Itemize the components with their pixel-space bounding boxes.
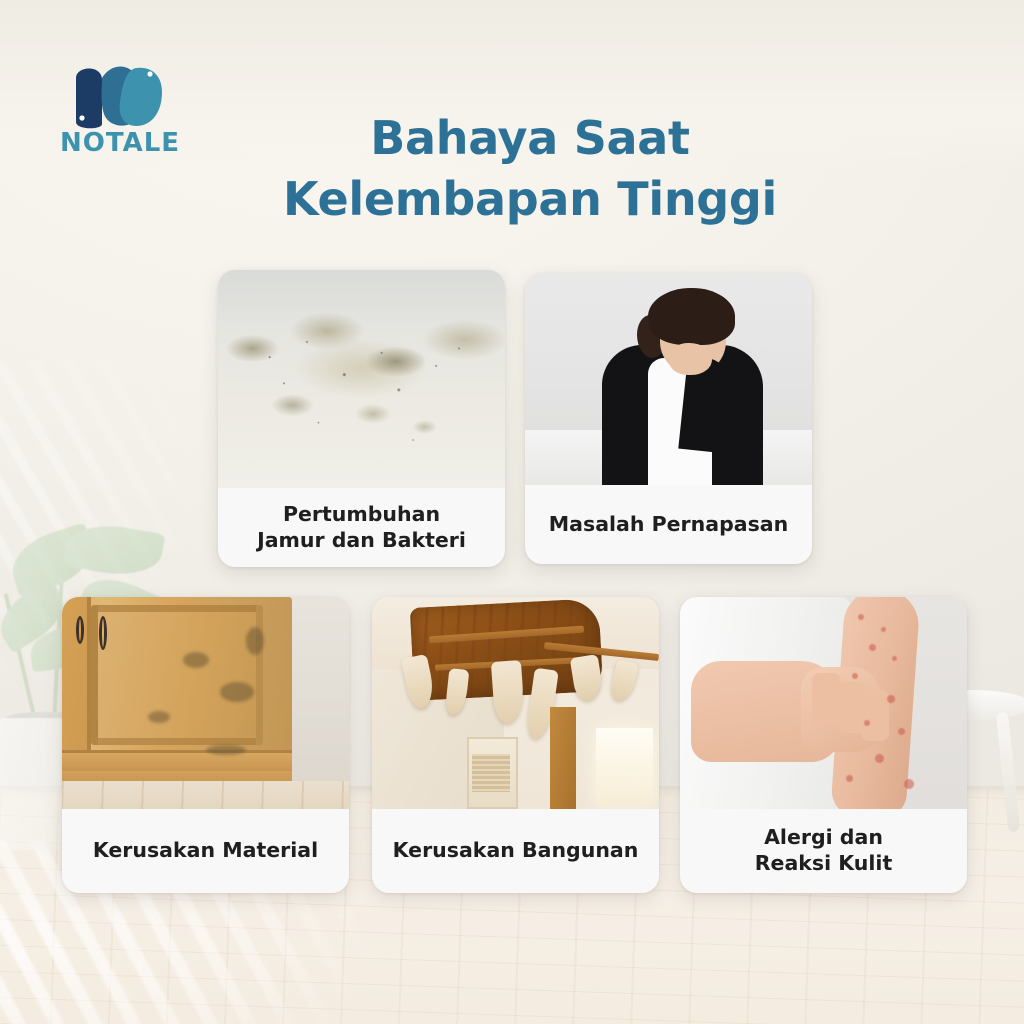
card-caption-line-1: Kerusakan Material bbox=[93, 838, 318, 862]
card-caption-line-1: Kerusakan Bangunan bbox=[393, 838, 639, 862]
risk-card-alergi-dan-reaksi-kulit[interactable]: Alergi dan Reaksi Kulit bbox=[680, 597, 967, 893]
brand-logo: NOTALE bbox=[60, 58, 180, 163]
card-caption: Kerusakan Material bbox=[62, 809, 349, 893]
risk-card-pertumbuhan-jamur-dan-bakteri[interactable]: Pertumbuhan Jamur dan Bakteri bbox=[218, 270, 505, 567]
page-title: Bahaya Saat Kelembapan Tinggi bbox=[200, 108, 860, 229]
card-caption: Kerusakan Bangunan bbox=[372, 809, 659, 893]
card-image-damaged-ceiling bbox=[372, 597, 659, 809]
card-caption-line-2: Reaksi Kulit bbox=[755, 851, 893, 875]
brand-name: NOTALE bbox=[60, 128, 178, 158]
card-caption: Masalah Pernapasan bbox=[525, 485, 812, 564]
notale-monogram-icon bbox=[66, 58, 172, 132]
card-caption-line-1: Alergi dan bbox=[764, 825, 883, 849]
card-caption: Pertumbuhan Jamur dan Bakteri bbox=[218, 488, 505, 567]
risk-card-masalah-pernapasan[interactable]: Masalah Pernapasan bbox=[525, 273, 812, 564]
card-image-itchy-arm bbox=[680, 597, 967, 809]
risk-card-kerusakan-bangunan[interactable]: Kerusakan Bangunan bbox=[372, 597, 659, 893]
title-line-1: Bahaya Saat bbox=[370, 111, 689, 165]
card-image-mold-wall bbox=[218, 270, 505, 488]
card-caption-line-1: Masalah Pernapasan bbox=[549, 512, 788, 536]
card-caption-line-2: Jamur dan Bakteri bbox=[257, 528, 466, 552]
card-image-wooden-cabinet bbox=[62, 597, 349, 809]
risk-card-kerusakan-material[interactable]: Kerusakan Material bbox=[62, 597, 349, 893]
card-image-coughing-woman bbox=[525, 273, 812, 485]
card-caption: Alergi dan Reaksi Kulit bbox=[680, 809, 967, 893]
card-caption-line-1: Pertumbuhan bbox=[283, 502, 440, 526]
title-line-2: Kelembapan Tinggi bbox=[200, 169, 860, 230]
